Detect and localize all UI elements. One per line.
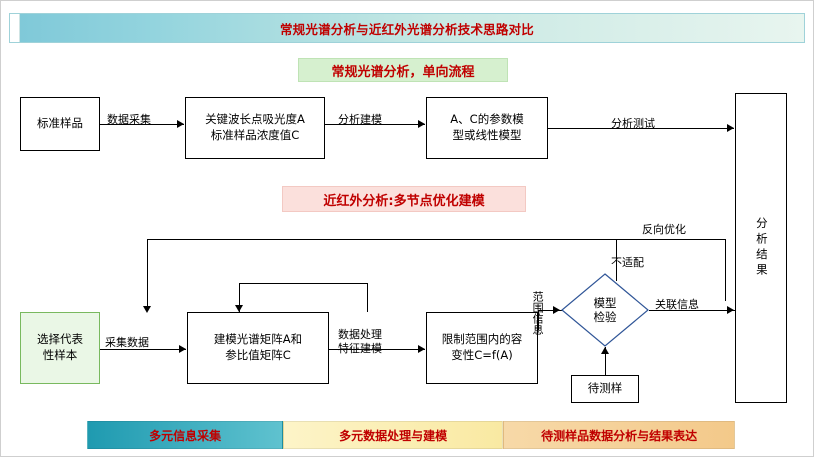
box-key-wavelength: 关键波长点吸光度A 标准样品浓度值C [185, 97, 325, 159]
footer-legend: 多元信息采集 多元数据处理与建模 待测样品数据分析与结果表达 [87, 421, 735, 447]
label-range-info: 范围信息 [531, 291, 543, 335]
box-unknown-sample: 待测样 [571, 375, 639, 403]
label-data-collection: 数据采集 [107, 111, 151, 127]
box-standard-sample: 标准样品 [20, 97, 100, 151]
diagram-canvas: 常规光谱分析与近红外光谱分析技术思路对比 常规光谱分析，单向流程 标准样品 数据… [0, 0, 814, 457]
page-title: 常规光谱分析与近红外光谱分析技术思路对比 [10, 14, 804, 42]
label-related-info: 关联信息 [655, 296, 699, 312]
connector-reverse-left-drop [147, 239, 148, 311]
arrowhead-check-to-result [727, 306, 734, 314]
connector-feedback-top [239, 283, 367, 284]
footer-cell-processing: 多元数据处理与建模 [283, 421, 503, 449]
label-analysis-modeling: 分析建模 [338, 111, 382, 127]
arrowhead-keypoints-to-model [418, 120, 425, 128]
title-bar: 常规光谱分析与近红外光谱分析技术思路对比 [9, 13, 805, 43]
footer-cell-collection: 多元信息采集 [87, 421, 283, 449]
arrowhead-repr-to-matrix [179, 345, 186, 353]
label-data-processing: 数据处理 特征建模 [338, 328, 382, 357]
footer-cell-analysis: 待测样品数据分析与结果表达 [503, 421, 735, 449]
banner-conventional: 常规光谱分析，单向流程 [298, 58, 508, 82]
decision-model-check: 模型 检验 [561, 273, 649, 347]
box-spectral-matrix: 建模光谱矩阵A和 参比值矩阵C [187, 312, 329, 384]
arrowhead-limit-to-check [553, 306, 560, 314]
label-reverse-optimization: 反向优化 [642, 221, 686, 237]
banner-nir: 近红外分析:多节点优化建模 [282, 186, 526, 212]
connector-feedback-from-process [367, 283, 368, 312]
decision-label: 模型 检验 [561, 273, 649, 347]
label-mismatch: 不适配 [611, 254, 644, 270]
arrowhead-unknown-to-check [601, 347, 609, 354]
box-representative-sample: 选择代表 性样本 [20, 312, 100, 384]
box-limited-range: 限制范围内的容 变性C=f(A) [426, 312, 538, 384]
label-collect-data: 采集数据 [105, 334, 149, 350]
connector-reverse-optimization [147, 239, 725, 240]
box-parameter-model: A、C的参数模 型或线性模型 [426, 97, 548, 159]
box-analysis-result: 分析结果 [735, 93, 787, 403]
arrowhead-matrix-to-limit [418, 345, 425, 353]
arrowhead-reverse-to-collect [143, 306, 151, 313]
arrowhead-sample-to-keypoints [177, 120, 184, 128]
label-analysis-test: 分析测试 [611, 115, 655, 131]
connector-reverse-right-drop [725, 239, 726, 301]
arrowhead-feedback-to-matrix [235, 305, 243, 312]
arrowhead-model-to-result [727, 124, 734, 132]
